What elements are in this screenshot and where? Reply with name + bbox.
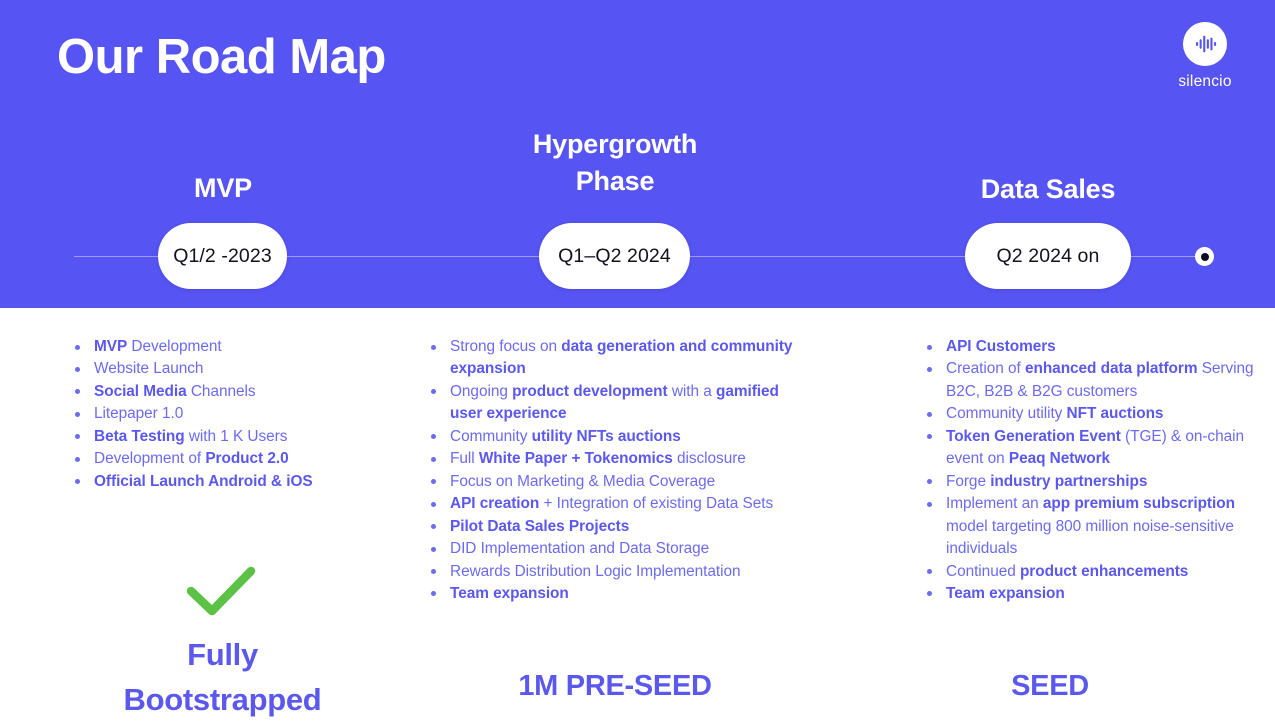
header-banner: Our Road Map silencio <box>0 0 1275 308</box>
list-item: Creation of enhanced data platform Servi… <box>920 358 1260 403</box>
page-title: Our Road Map <box>57 30 386 85</box>
phase-heading-hypergrowth-line1: Hypergrowth <box>515 126 715 163</box>
list-item: Team expansion <box>920 583 1260 605</box>
funding-label-mvp-line1: Fully <box>70 632 375 677</box>
list-item: Continued product enhancements <box>920 561 1260 583</box>
list-item: Official Launch Android & iOS <box>68 471 413 493</box>
list-item: Litepaper 1.0 <box>68 403 413 425</box>
list-item: Beta Testing with 1 K Users <box>68 426 413 448</box>
brand-logo: silencio <box>1159 22 1251 91</box>
funding-label-mvp-line2: Bootstrapped <box>70 677 375 722</box>
phase-heading-hypergrowth: Hypergrowth Phase <box>515 126 715 199</box>
funding-label-hypergrowth: 1M PRE-SEED <box>440 666 790 706</box>
audio-waveform-icon <box>1183 22 1227 66</box>
phase-heading-mvp: MVP <box>123 170 323 207</box>
list-item: Token Generation Event (TGE) & on-chain … <box>920 426 1260 471</box>
list-item: API Customers <box>920 336 1260 358</box>
list-item: Team expansion <box>424 583 814 605</box>
bullet-list-hypergrowth: Strong focus on data generation and comm… <box>424 336 814 605</box>
list-item: DID Implementation and Data Storage <box>424 538 814 560</box>
list-item: Focus on Marketing & Media Coverage <box>424 471 814 493</box>
timeline-end-dot-icon <box>1195 247 1214 266</box>
timeline-pill-hypergrowth[interactable]: Q1–Q2 2024 <box>539 223 690 289</box>
list-item: MVP Development <box>68 336 413 358</box>
funding-label-mvp: Fully Bootstrapped <box>70 632 375 722</box>
list-item: Pilot Data Sales Projects <box>424 516 814 538</box>
funding-label-data-sales: SEED <box>930 666 1170 706</box>
list-item: Rewards Distribution Logic Implementatio… <box>424 561 814 583</box>
list-item: Development of Product 2.0 <box>68 448 413 470</box>
list-item: Implement an app premium subscription mo… <box>920 493 1260 560</box>
roadmap-slide: Our Road Map silencio <box>0 0 1275 720</box>
list-item: Full White Paper + Tokenomics disclosure <box>424 448 814 470</box>
phase-heading-data-sales: Data Sales <box>948 171 1148 208</box>
list-item: Website Launch <box>68 358 413 380</box>
bullet-list-data-sales: API CustomersCreation of enhanced data p… <box>920 336 1260 605</box>
column-mvp: MVP DevelopmentWebsite LaunchSocial Medi… <box>68 336 413 493</box>
brand-name: silencio <box>1178 73 1231 91</box>
list-item: Social Media Channels <box>68 381 413 403</box>
column-hypergrowth: Strong focus on data generation and comm… <box>424 336 814 605</box>
list-item: Strong focus on data generation and comm… <box>424 336 814 381</box>
phase-heading-hypergrowth-line2: Phase <box>515 163 715 200</box>
timeline-pill-data-sales[interactable]: Q2 2024 on <box>965 223 1131 289</box>
list-item: Ongoing product development with a gamif… <box>424 381 814 426</box>
list-item: Community utility NFTs auctions <box>424 426 814 448</box>
bullet-list-mvp: MVP DevelopmentWebsite LaunchSocial Medi… <box>68 336 413 493</box>
timeline-pill-mvp[interactable]: Q1/2 -2023 <box>158 223 287 289</box>
column-data-sales: API CustomersCreation of enhanced data p… <box>920 336 1260 605</box>
list-item: Forge industry partnerships <box>920 471 1260 493</box>
list-item: Community utility NFT auctions <box>920 403 1260 425</box>
list-item: API creation + Integration of existing D… <box>424 493 814 515</box>
green-check-icon <box>183 565 259 617</box>
